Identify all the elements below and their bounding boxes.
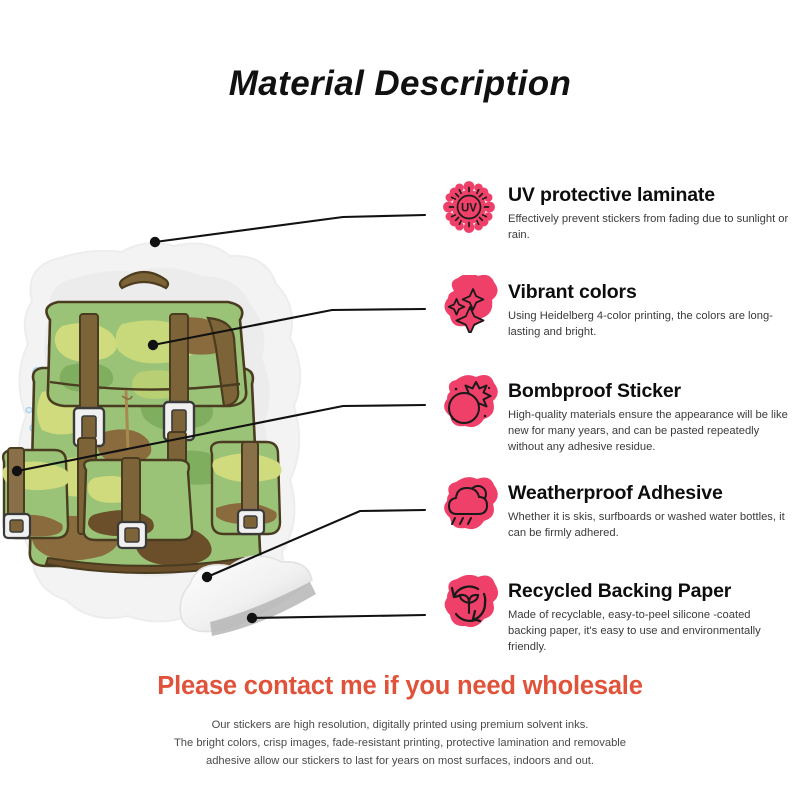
wholesale-cta-text: Please contact me if you need wholesale	[0, 672, 800, 701]
feature-body: Effectively prevent stickers from fading…	[508, 212, 790, 244]
uv-sun-icon: UV	[440, 178, 498, 236]
backpack-sticker-artwork	[0, 232, 344, 652]
footer-note-line-2: The bright colors, crisp images, fade-re…	[0, 734, 800, 752]
feature-title: UV protective laminate	[508, 184, 790, 207]
feature-text-block: UV protective laminate Effectively preve…	[508, 182, 790, 244]
feature-item-weatherproof-adhesive: Weatherproof Adhesive Whether it is skis…	[440, 480, 790, 542]
feature-item-vibrant-colors: Vibrant colors Using Heidelberg 4-color …	[440, 279, 790, 341]
material-description-infographic: Material Description	[0, 0, 800, 800]
feature-title: Vibrant colors	[508, 281, 790, 304]
page-title: Material Description	[0, 64, 800, 104]
feature-body: Whether it is skis, surfboards or washed…	[508, 510, 790, 542]
feature-body: Made of recyclable, easy-to-peel silicon…	[508, 608, 790, 656]
rain-cloud-icon	[440, 476, 498, 534]
feature-item-recycled-backing-paper: Recycled Backing Paper Made of recyclabl…	[440, 578, 790, 656]
feature-title: Bombproof Sticker	[508, 380, 790, 403]
feature-body: High-quality materials ensure the appear…	[508, 408, 790, 456]
feature-text-block: Bombproof Sticker High-quality materials…	[508, 378, 790, 456]
bomb-icon	[440, 374, 498, 432]
footer-note-line-3: adhesive allow our stickers to last for …	[0, 752, 800, 770]
sparkle-icon	[440, 275, 498, 333]
feature-title: Weatherproof Adhesive	[508, 482, 790, 505]
feature-text-block: Weatherproof Adhesive Whether it is skis…	[508, 480, 790, 542]
footer-note: Our stickers are high resolution, digita…	[0, 716, 800, 770]
feature-title: Recycled Backing Paper	[508, 580, 790, 603]
feature-body: Using Heidelberg 4-color printing, the c…	[508, 309, 790, 341]
feature-text-block: Vibrant colors Using Heidelberg 4-color …	[508, 279, 790, 341]
feature-item-uv-protective-laminate: UV UV protective laminate Effectively pr…	[440, 182, 790, 244]
recycle-sprout-icon	[440, 574, 498, 632]
feature-text-block: Recycled Backing Paper Made of recyclabl…	[508, 578, 790, 656]
feature-item-bombproof-sticker: Bombproof Sticker High-quality materials…	[440, 378, 790, 456]
footer-note-line-1: Our stickers are high resolution, digita…	[0, 716, 800, 734]
uv-icon-label: UV	[461, 202, 477, 214]
